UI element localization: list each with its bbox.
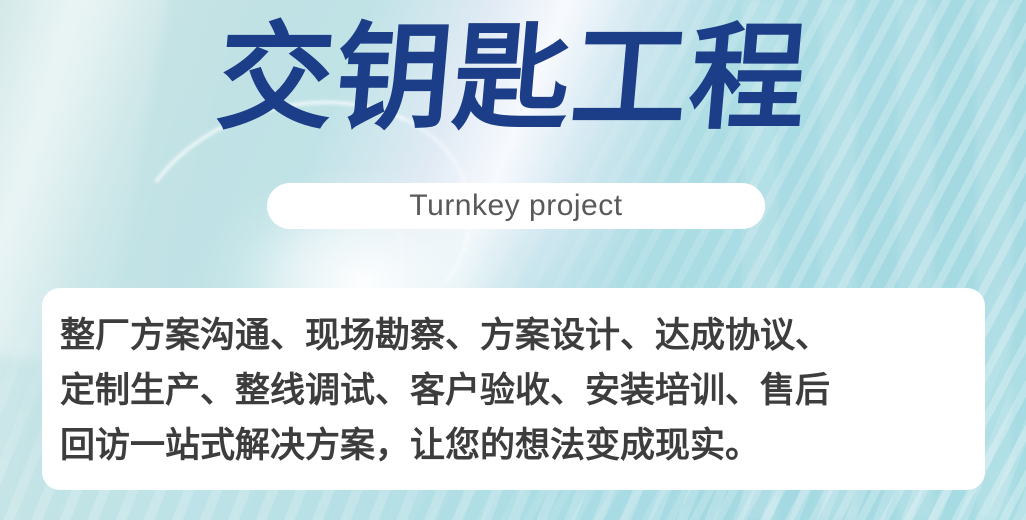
- description-line-2: 定制生产、整线调试、客户验收、安装培训、售后: [60, 364, 967, 419]
- page-title: 交钥匙工程: [0, 16, 1026, 141]
- turnkey-project-banner: 交钥匙工程 Turnkey project 整厂方案沟通、现场勘察、方案设计、达…: [0, 0, 1026, 520]
- subtitle-pill: Turnkey project: [267, 183, 765, 229]
- description-card: 整厂方案沟通、现场勘察、方案设计、达成协议、 定制生产、整线调试、客户验收、安装…: [42, 288, 985, 490]
- description-line-1: 整厂方案沟通、现场勘察、方案设计、达成协议、: [60, 309, 967, 364]
- subtitle-text: Turnkey project: [409, 189, 622, 223]
- description-line-3: 回访一站式解决方案，让您的想法变成现实。: [60, 419, 967, 474]
